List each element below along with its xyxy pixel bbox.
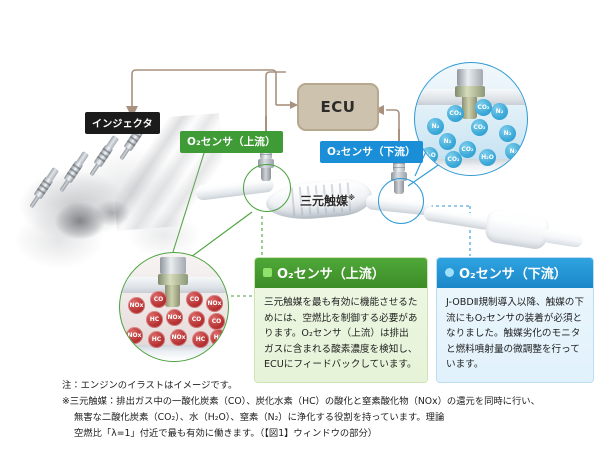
downstream-sensor-highlight-circle (378, 178, 424, 224)
molecule-badge: NOx (128, 297, 145, 314)
molecule-badge: H₂O (421, 147, 438, 164)
molecule-badge: CO (150, 291, 167, 308)
footnote-line-3: 無害な二酸化炭素（CO₂）、水（H₂O）、窒素（N₂）に浄化する役割を持っていま… (62, 410, 586, 426)
ecu-box[interactable]: ECU (297, 83, 379, 131)
info-card-upstream-body: 三元触媒を最も有効に機能させるためには、空燃比を制御する必要があります。O₂セン… (255, 288, 427, 382)
molecule-badge: NOx (166, 309, 183, 326)
molecule-badge: HC (146, 311, 163, 328)
molecule-badge: CO (188, 311, 205, 328)
diagram-canvas: ECU N₂ CO₂ N₂ CO₂ N₂ CO₂ N₂ H₂O CO₂ H₂O … (0, 0, 600, 450)
molecule-badge: HC (192, 331, 209, 348)
injector-label-tag: インジェクタ (85, 112, 160, 134)
exhaust-pipe-rear (423, 206, 492, 230)
molecule-badge: CO₂ (459, 141, 476, 158)
info-card-upstream-title: O₂センサ（上流） (277, 263, 385, 282)
molecule-badge: CO (186, 291, 203, 308)
molecule-badge: CO (208, 313, 225, 330)
o2-downstream-label-tag: O₂センサ（下流） (320, 141, 423, 163)
molecule-badge: N₂ (491, 103, 508, 120)
info-card-downstream: O₂センサ（下流） J-OBDⅡ規制導入以降、触媒の下流にもO₂センサの装着が必… (437, 258, 593, 382)
molecule-badge: N₂ (439, 133, 456, 150)
info-card-downstream-title: O₂センサ（下流） (459, 263, 567, 282)
upstream-sensor-highlight-circle (243, 164, 291, 212)
magnifier-downstream-gases: N₂ CO₂ N₂ CO₂ N₂ CO₂ N₂ H₂O CO₂ H₂O N₂ C… (414, 62, 528, 176)
muffler (484, 208, 550, 250)
molecule-badge: NOx (170, 329, 187, 346)
molecule-badge: CO₂ (475, 99, 492, 116)
tailpipe (542, 228, 584, 248)
magnifier-upstream-gases: NOx CO CO NOx HC NOx CO CO NOx HC NOx HC… (119, 252, 229, 362)
molecule-badge: N₂ (499, 125, 516, 142)
info-card-downstream-body: J-OBDⅡ規制導入以降、触媒の下流にもO₂センサの装着が必須となりました。触媒… (437, 288, 593, 382)
footnotes: 注：エンジンのイラストはイメージです。 ※三元触媒：排出ガス中の一酸化炭素（CO… (62, 378, 586, 442)
molecule-badge: CO₂ (447, 105, 464, 122)
info-card-upstream: O₂センサ（上流） 三元触媒を最も有効に機能させるためには、空燃比を制御する必要… (255, 258, 427, 382)
info-card-upstream-header: O₂センサ（上流） (255, 258, 427, 288)
footnote-line-1: 注：エンジンのイラストはイメージです。 (62, 378, 586, 394)
footnote-line-2: ※三元触媒：排出ガス中の一酸化炭素（CO）、炭化水素（HC）の酸化と窒素酸化物（… (62, 394, 586, 410)
bullet-square-icon (263, 268, 272, 277)
molecule-badge: HC (148, 331, 165, 348)
catalyst-label: 三元触媒※ (300, 192, 355, 209)
molecule-badge: H₂O (479, 149, 496, 166)
catalyst-footnote-marker: ※ (348, 193, 355, 202)
molecule-badge: CO₂ (445, 151, 462, 168)
molecule-badge: NOx (126, 327, 143, 344)
molecule-badge: N₂ (505, 143, 522, 160)
molecule-badge: HC (210, 329, 227, 346)
engine-core-shape (46, 191, 138, 253)
o2-upstream-label-tag: O₂センサ（上流） (180, 131, 283, 153)
molecule-badge: NOx (206, 295, 223, 312)
info-card-downstream-header: O₂センサ（下流） (437, 258, 593, 288)
molecule-badge: CO₂ (471, 119, 488, 136)
footnote-line-4: 空燃比「λ=1」付近で最も有効に働きます。（【図1】ウィンドウの部分） (62, 426, 586, 442)
catalyst-label-text: 三元触媒 (300, 194, 348, 208)
bullet-circle-icon (445, 268, 454, 277)
molecule-badge: N₂ (427, 118, 444, 135)
